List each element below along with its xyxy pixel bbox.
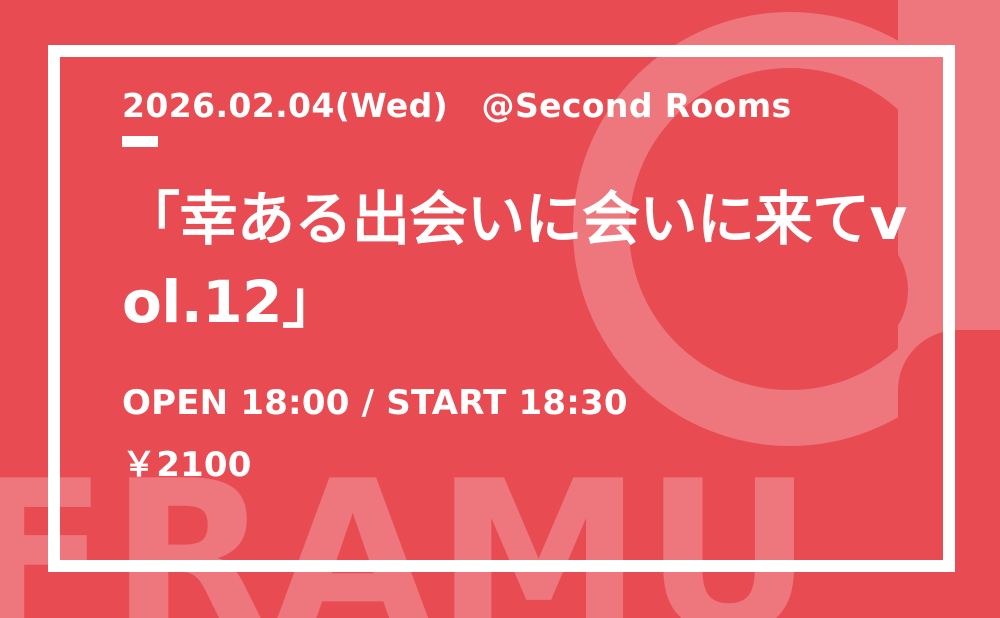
open-start-times: OPEN 18:00 / START 18:30 [122,386,942,420]
event-title: 「幸ある出会いに会いに来てvol.12」 [122,178,912,344]
date-venue-line: 2026.02.04(Wed) @Second Rooms [122,86,942,126]
flyer-content: 2026.02.04(Wed) @Second Rooms 「幸ある出会いに会い… [122,86,942,482]
event-flyer: FRAMU 2026.02.04(Wed) @Second Rooms 「幸ある… [0,0,1000,618]
divider-dash [122,136,158,147]
ticket-price: ￥2100 [122,448,942,482]
